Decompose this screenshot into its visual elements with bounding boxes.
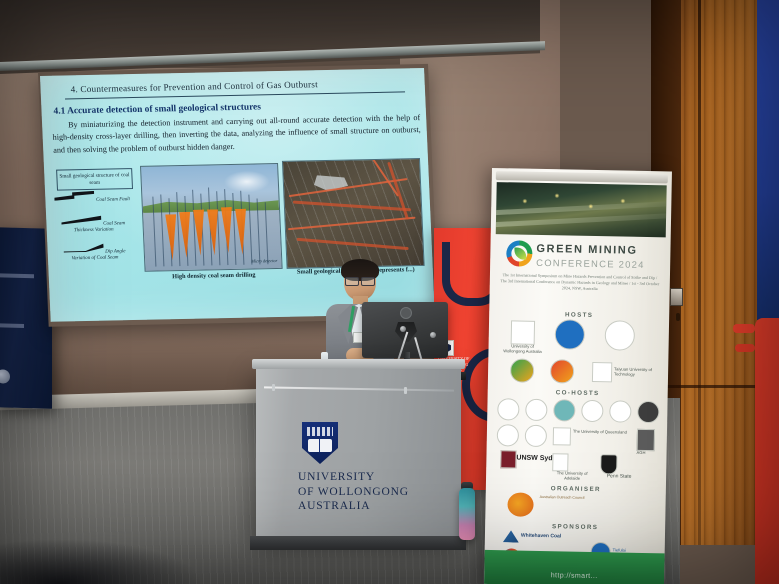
legend-label-fault: Coal Seam Fault [96, 197, 130, 203]
logo-agh-label: AGH [637, 451, 646, 456]
logo-pennstate-label: Penn State [596, 474, 642, 481]
banner-title: GREEN MINING [536, 243, 637, 257]
lectern-line-2: OF WOLLONGONG [298, 485, 438, 500]
lectern-cable [264, 386, 454, 391]
logo-unsw-icon [500, 450, 516, 468]
legend-item-fault: Coal Seam Fault [53, 190, 132, 205]
logo-adelaide-label: The University of Adelaide [550, 471, 594, 481]
door-lock-plate [670, 288, 683, 306]
dip-angle-variation-icon [64, 243, 104, 253]
red-chair [755, 318, 779, 584]
logo-cohost-2 [525, 399, 547, 421]
legend-item-thickness: Coal Seam Thickness Variation [54, 214, 133, 235]
logo-uow [511, 320, 535, 344]
logo-monash [525, 425, 547, 447]
door-keyhole [676, 313, 680, 321]
green-mining-rollup-banner: GREEN MINING CONFERENCE 2024 The 1st Int… [484, 168, 672, 584]
crest-open-book-icon [308, 439, 332, 452]
microphone-head-right [430, 332, 436, 338]
rollup-top-rail [496, 171, 668, 183]
logo-agh-icon [637, 429, 655, 451]
lectern: UNIVERSITY OF WOLLONGONG AUSTRALIA [256, 366, 461, 538]
logo-ccteg [605, 320, 636, 351]
navy-side-banner [0, 227, 52, 409]
lectern-top-edge [252, 359, 465, 369]
coal-seam-thickness-icon [62, 215, 102, 225]
logo-taiyuan-label: Taiyuan University of Technology [614, 367, 668, 377]
section-heading-sponsors: SPONSORS [485, 522, 665, 532]
rollup-header-photo [496, 182, 667, 237]
lectern-line-1: UNIVERSITY [298, 470, 438, 485]
legend-item-dip-angle: Dip Angle Variation of Coal Seam [55, 242, 134, 263]
navy-banner-emblem [0, 369, 10, 383]
logo-organiser-label: Australian Outreach Council [540, 495, 652, 502]
logo-cohost-6 [497, 424, 519, 446]
micro-detector-annotation: Micro detector [251, 259, 277, 264]
logo-whitehaven-icon [503, 530, 519, 542]
logo-taiyuan [592, 362, 612, 382]
floor-shadow [0, 540, 200, 584]
slide-legend-title: Small geological structure of coal seam [56, 168, 133, 191]
coal-seam-fault-icon [54, 191, 94, 201]
blue-chair [757, 0, 779, 320]
logo-sdust [510, 358, 534, 382]
banner-subtitle: CONFERENCE 2024 [536, 257, 645, 270]
banner-description: The 1st International Symposium on Mine … [500, 272, 660, 293]
logo-yankuang [550, 359, 574, 383]
logo-uq-icon [553, 427, 571, 445]
figure-a-caption: High density coal seam drilling [141, 271, 287, 281]
logo-whitehaven-label: Whitehaven Coal [521, 534, 561, 541]
logo-pennstate-icon [600, 454, 617, 474]
section-heading-hosts: HOSTS [489, 310, 669, 320]
red-chair-armrest [733, 324, 755, 333]
water-bottle [459, 488, 475, 540]
section-heading-cohosts: CO-HOSTS [488, 388, 668, 398]
red-chair-armrest-lower [735, 344, 755, 352]
logo-cohost-3 [553, 399, 575, 421]
section-heading-organiser: ORGANISER [486, 484, 666, 494]
lectern-line-3: AUSTRALIA [298, 499, 438, 514]
figure-drilling-diagram: Micro detector [140, 163, 283, 272]
logo-adelaide-icon [552, 453, 568, 471]
logo-cohost-5 [609, 400, 631, 422]
lectern-organisation-name: UNIVERSITY OF WOLLONGONG AUSTRALIA [298, 470, 438, 514]
logo-cumt [555, 319, 586, 350]
figure-geological-structure [282, 158, 425, 269]
logo-cohost-4 [581, 400, 603, 422]
glasses-icon [345, 277, 375, 284]
logo-cohost-1 [497, 398, 519, 420]
conference-room-photo: 4. Countermeasures for Prevention and Co… [0, 0, 779, 584]
dell-logo-icon [400, 307, 412, 319]
logo-curtin [637, 401, 659, 423]
slide-body-text: By miniaturizing the detection instrumen… [52, 112, 422, 157]
lectern-base [250, 536, 466, 550]
logo-organiser-icon [507, 492, 533, 516]
uow-crest-icon [302, 422, 338, 464]
green-mining-logo-icon [506, 240, 532, 266]
logo-uq-label: The University of Queensland [573, 430, 627, 436]
logo-uow-label: University of Wollongong Australia [502, 344, 542, 354]
microphone-head-left [400, 326, 406, 332]
door-seam [698, 0, 701, 545]
